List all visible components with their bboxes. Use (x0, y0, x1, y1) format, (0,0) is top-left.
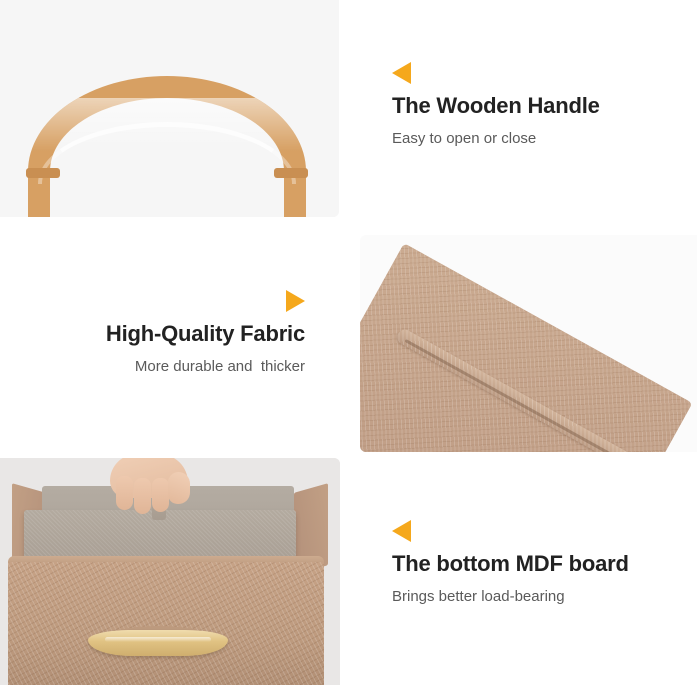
fabric-photo-panel (360, 235, 697, 452)
wooden-handle-illustration (28, 76, 306, 176)
handle-foot-left (26, 168, 60, 178)
hand-finger-3 (152, 478, 169, 512)
feature-title-high-quality-fabric: High-Quality Fabric (15, 321, 305, 347)
storage-box-photo (0, 458, 340, 685)
handle-arc-body (28, 76, 306, 217)
handle-photo (0, 0, 339, 217)
hand-finger-1 (116, 476, 133, 510)
feature-title-wooden-handle: The Wooden Handle (392, 93, 682, 119)
triangle-right-icon (286, 290, 305, 312)
box-front-fabric (8, 562, 324, 685)
box-wooden-handle (88, 630, 228, 656)
feature-title-bottom-mdf-board: The bottom MDF board (392, 551, 682, 577)
feature-block-high-quality-fabric: High-Quality Fabric More durable and thi… (15, 290, 305, 375)
triangle-left-icon (392, 520, 411, 542)
triangle-left-icon-wrapper (392, 520, 682, 542)
triangle-left-icon (392, 62, 411, 84)
feature-subtitle-wooden-handle: Easy to open or close (392, 130, 682, 147)
storage-box-photo-panel (0, 458, 340, 685)
box-handle-wood (88, 630, 228, 656)
hand-finger-2 (134, 478, 151, 514)
fabric-photo (360, 235, 697, 452)
feature-subtitle-high-quality-fabric: More durable and thicker (15, 358, 305, 375)
handle-foot-right (274, 168, 308, 178)
wooden-handle-photo-panel (0, 0, 339, 217)
triangle-left-icon-wrapper (392, 62, 682, 84)
hand-thumb (168, 472, 190, 504)
infographic-canvas: The Wooden Handle Easy to open or close … (0, 0, 697, 685)
feature-block-bottom-mdf-board: The bottom MDF board Brings better load-… (392, 520, 682, 605)
feature-block-wooden-handle: The Wooden Handle Easy to open or close (392, 62, 682, 147)
feature-subtitle-bottom-mdf-board: Brings better load-bearing (392, 588, 682, 605)
triangle-right-icon-wrapper (15, 290, 305, 312)
